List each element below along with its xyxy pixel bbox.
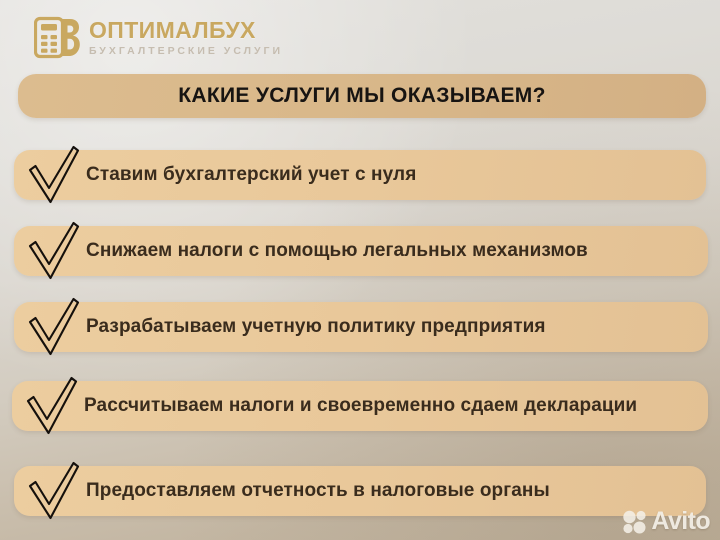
calculator-b-logo-icon bbox=[34, 15, 80, 60]
service-item-2: Снижаем налоги с помощью легальных механ… bbox=[14, 226, 708, 276]
service-label: Разрабатываем учетную политику предприят… bbox=[86, 316, 546, 338]
poster-canvas: ОПТИМАЛБУХ БУХГАЛТЕРСКИЕ УСЛУГИ КАКИЕ УС… bbox=[0, 0, 720, 540]
service-item-5: Предоставляем отчетность в налоговые орг… bbox=[14, 466, 706, 516]
avito-watermark: Avito bbox=[622, 509, 710, 534]
brand-tagline: БУХГАЛТЕРСКИЕ УСЛУГИ bbox=[89, 46, 283, 57]
avito-label: Avito bbox=[651, 509, 710, 534]
avito-dots-icon bbox=[622, 510, 648, 534]
brand-logo-text: ОПТИМАЛБУХ БУХГАЛТЕРСКИЕ УСЛУГИ bbox=[89, 18, 283, 57]
service-label: Снижаем налоги с помощью легальных механ… bbox=[86, 240, 588, 262]
brand-logo: ОПТИМАЛБУХ БУХГАЛТЕРСКИЕ УСЛУГИ bbox=[34, 15, 283, 60]
service-item-1: Ставим бухгалтерский учет с нуля bbox=[14, 150, 706, 200]
brand-name: ОПТИМАЛБУХ bbox=[89, 19, 283, 42]
service-item-3: Разрабатываем учетную политику предприят… bbox=[14, 302, 708, 352]
service-label: Ставим бухгалтерский учет с нуля bbox=[86, 164, 416, 186]
service-label: Предоставляем отчетность в налоговые орг… bbox=[86, 480, 550, 502]
page-title: КАКИЕ УСЛУГИ МЫ ОКАЗЫВАЕМ? bbox=[178, 84, 545, 108]
service-label: Рассчитываем налоги и своевременно сдаем… bbox=[84, 395, 637, 417]
headline-bar: КАКИЕ УСЛУГИ МЫ ОКАЗЫВАЕМ? bbox=[18, 74, 706, 118]
service-item-4: Рассчитываем налоги и своевременно сдаем… bbox=[12, 381, 708, 431]
